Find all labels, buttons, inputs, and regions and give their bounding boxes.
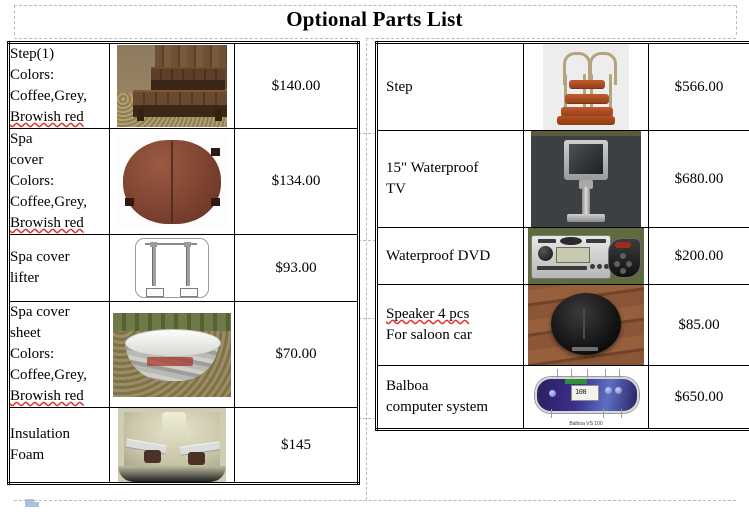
part-name-line: Spa cover	[10, 247, 109, 268]
table-row[interactable]: Step $566.00	[377, 43, 749, 131]
part-name-line: Balboa	[386, 376, 523, 397]
part-name-line-misspelled: Browish red	[10, 213, 109, 234]
part-name-line: Foam	[10, 445, 109, 466]
table-row[interactable]: Insulation Foam $145	[9, 408, 359, 484]
part-name-line: Coffee,Grey,	[10, 365, 109, 386]
table-move-handle-icon[interactable]	[25, 499, 41, 508]
part-name-line: TV	[386, 179, 523, 200]
waterproof-dvd-photo	[528, 228, 644, 284]
part-name-cell: Speaker 4 pcs For saloon car	[377, 285, 524, 366]
table-row[interactable]: Spa cover sheet Colors: Coffee,Grey, Bro…	[9, 302, 359, 408]
spa-cover-lifter-drawing	[129, 235, 215, 301]
table-row[interactable]: Step(1) Colors: Coffee,Grey, Browish red…	[9, 43, 359, 129]
table-row[interactable]: Spa cover Colors: Coffee,Grey, Browish r…	[9, 129, 359, 235]
part-name-cell: Step(1) Colors: Coffee,Grey, Browish red	[9, 43, 110, 129]
part-image-cell	[524, 131, 649, 228]
part-name-line: Step	[386, 77, 523, 98]
part-name-line: Coffee,Grey,	[10, 192, 109, 213]
part-price-cell: $85.00	[649, 285, 749, 366]
part-name-line: Spa	[10, 129, 109, 150]
part-image-cell	[524, 43, 649, 131]
part-price-cell: $140.00	[235, 43, 359, 129]
part-name-line: Insulation	[10, 424, 109, 445]
page-title: Optional Parts List	[0, 6, 749, 32]
balboa-control-panel-photo: 100 Balboa VS 100	[527, 366, 645, 428]
part-name-line: For saloon car	[386, 325, 523, 346]
balboa-lcd-text: 100	[575, 388, 586, 396]
part-price-cell: $70.00	[235, 302, 359, 408]
part-name-line: Spa cover	[10, 302, 109, 323]
part-name-cell: Spa cover Colors: Coffee,Grey, Browish r…	[9, 129, 110, 235]
part-name-cell: Spa cover lifter	[9, 235, 110, 302]
part-name-line: sheet	[10, 323, 109, 344]
part-name-line: Step(1)	[10, 44, 109, 65]
wooden-spa-step-photo	[117, 45, 227, 127]
table-row[interactable]: Speaker 4 pcs For saloon car $85.00	[377, 285, 749, 366]
part-name-line: lifter	[10, 268, 109, 289]
row-guide-1	[358, 133, 376, 134]
part-price-cell: $145	[235, 408, 359, 484]
part-name-line: Colors:	[10, 171, 109, 192]
part-name-line: Colors:	[10, 344, 109, 365]
table-row[interactable]: 15" Waterproof TV $680.00	[377, 131, 749, 228]
part-name-cell: 15" Waterproof TV	[377, 131, 524, 228]
part-name-line: cover	[10, 150, 109, 171]
part-price-cell: $566.00	[649, 43, 749, 131]
column-guide-top-left	[14, 38, 358, 39]
part-name-line-misspelled: Speaker 4 pcs	[386, 304, 523, 325]
part-price-cell: $200.00	[649, 228, 749, 285]
waterproof-tv-photo	[531, 131, 641, 227]
part-price-cell: $93.00	[235, 235, 359, 302]
part-image-cell	[110, 235, 235, 302]
table-row[interactable]: Balboa computer system 100 Balboa VS 100	[377, 366, 749, 430]
part-image-cell	[110, 408, 235, 484]
balboa-caption: Balboa VS 100	[527, 421, 645, 427]
right-parts-table: Step $566.00 15" Waterproof TV	[375, 41, 749, 431]
part-image-cell	[524, 285, 649, 366]
column-guide-top-right	[366, 38, 736, 39]
part-name-line-misspelled: Browish red	[10, 386, 109, 407]
round-brown-spa-cover-photo	[115, 136, 229, 228]
part-name-line: computer system	[386, 397, 523, 418]
part-name-cell: Balboa computer system	[377, 366, 524, 430]
part-name-line: Waterproof DVD	[386, 246, 523, 267]
part-image-cell	[110, 302, 235, 408]
car-speaker-photo	[528, 285, 644, 365]
row-guide-2	[358, 240, 376, 241]
table-row[interactable]: Spa cover lifter $93.00	[9, 235, 359, 302]
part-price-cell: $680.00	[649, 131, 749, 228]
part-name-line: Coffee,Grey,	[10, 86, 109, 107]
insulation-foam-photo	[118, 408, 226, 482]
part-name-cell: Step	[377, 43, 524, 131]
part-name-line: 15" Waterproof	[386, 158, 523, 179]
part-name-cell: Waterproof DVD	[377, 228, 524, 285]
row-guide-3	[358, 318, 376, 319]
part-name-line-misspelled: Browish red	[10, 107, 109, 128]
part-name-cell: Insulation Foam	[9, 408, 110, 484]
part-image-cell	[524, 228, 649, 285]
orange-step-stool-photo	[543, 44, 629, 130]
left-parts-table: Step(1) Colors: Coffee,Grey, Browish red…	[7, 41, 360, 485]
column-separator-guide	[366, 38, 367, 500]
part-price-cell: $134.00	[235, 129, 359, 235]
part-name-cell: Spa cover sheet Colors: Coffee,Grey, Bro…	[9, 302, 110, 408]
table-row[interactable]: Waterproof DVD	[377, 228, 749, 285]
part-price-cell: $650.00	[649, 366, 749, 430]
row-guide-4	[358, 418, 376, 419]
grey-spa-cover-sheet-photo	[113, 313, 231, 397]
part-name-line: Colors:	[10, 65, 109, 86]
part-image-cell: 100 Balboa VS 100	[524, 366, 649, 430]
part-image-cell	[110, 129, 235, 235]
margin-guide-bottom	[14, 500, 736, 501]
part-image-cell	[110, 43, 235, 129]
